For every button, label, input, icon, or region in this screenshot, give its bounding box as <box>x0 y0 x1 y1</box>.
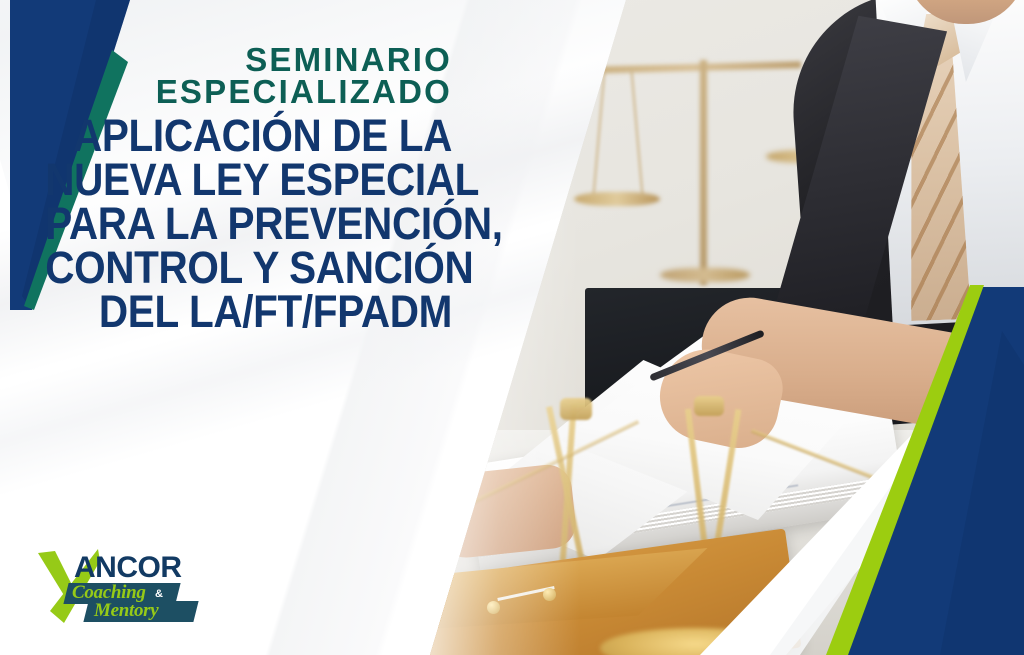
photo-envelope-button <box>487 601 500 614</box>
eyebrow-text: SEMINARIO ESPECIALIZADO <box>0 44 452 108</box>
page-title: APLICACIÓN DE LA NUEVA LEY ESPECIAL PARA… <box>45 114 452 334</box>
logo-tagline-mentory: Mentory <box>94 600 158 621</box>
promotional-banner: SEMINARIO ESPECIALIZADO APLICACIÓN DE LA… <box>0 0 1024 655</box>
headline-line-5: DEL LA/FT/FPADM <box>45 290 452 334</box>
headline-line-1: APLICACIÓN DE LA <box>45 114 452 158</box>
scales-of-justice-base-icon <box>660 268 750 282</box>
headline-block: SEMINARIO ESPECIALIZADO APLICACIÓN DE LA… <box>0 44 470 334</box>
eyebrow-line-2: ESPECIALIZADO <box>0 76 452 108</box>
photo-envelope-button <box>543 588 556 601</box>
scales-pan-left <box>574 192 660 206</box>
headline-line-3: PARA LA PREVENCIÓN, <box>45 202 452 246</box>
logo-ampersand: & <box>155 589 163 600</box>
photo-brass-hinge <box>560 398 592 420</box>
photo-brass-hinge <box>694 396 724 416</box>
headline-line-4: CONTROL Y SANCIÓN <box>45 246 452 290</box>
headline-line-2: NUEVA LEY ESPECIAL <box>45 158 452 202</box>
brand-logo[interactable]: ANCOR Coaching & Mentory <box>38 547 218 633</box>
scales-of-justice-post-icon <box>700 60 707 285</box>
logo-wordmark: ANCOR <box>74 553 182 583</box>
